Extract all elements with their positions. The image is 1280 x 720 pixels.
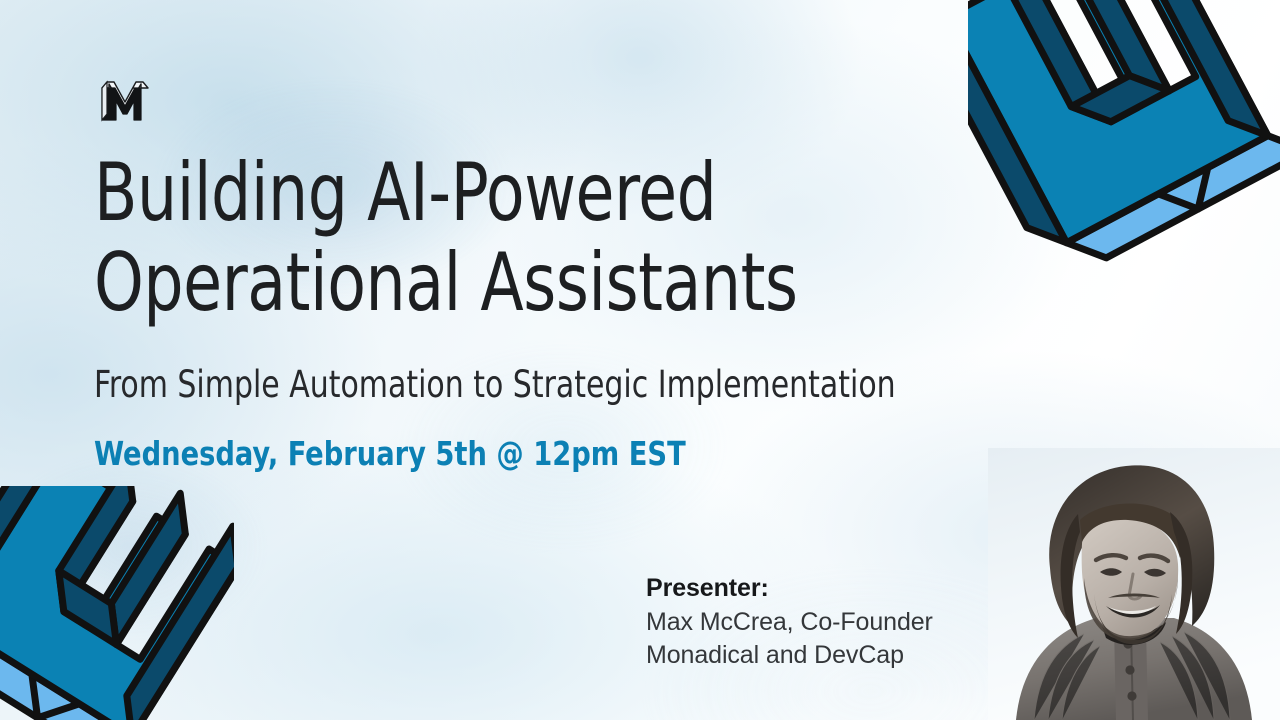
headline-block: Building AI-Powered Operational Assistan… — [94, 148, 994, 473]
isometric-m-shape-bottom-left — [0, 486, 234, 720]
page-subtitle: From Simple Automation to Strategic Impl… — [94, 363, 904, 407]
presenter-name: Max McCrea, Co-Founder — [646, 606, 1006, 640]
presenter-company: Monadical and DevCap — [646, 639, 1006, 673]
presenter-label: Presenter: — [646, 572, 1006, 606]
event-datetime: Wednesday, February 5th @ 12pm EST — [94, 434, 922, 474]
presenter-block: Presenter: Max McCrea, Co-Founder Monadi… — [646, 572, 1006, 673]
presenter-photo — [988, 448, 1280, 720]
page-title: Building AI-Powered Operational Assistan… — [94, 148, 886, 327]
webinar-slide: Building AI-Powered Operational Assistan… — [0, 0, 1280, 720]
isometric-m-shape-top-right — [968, 0, 1280, 320]
brand-logo-icon — [94, 68, 156, 130]
